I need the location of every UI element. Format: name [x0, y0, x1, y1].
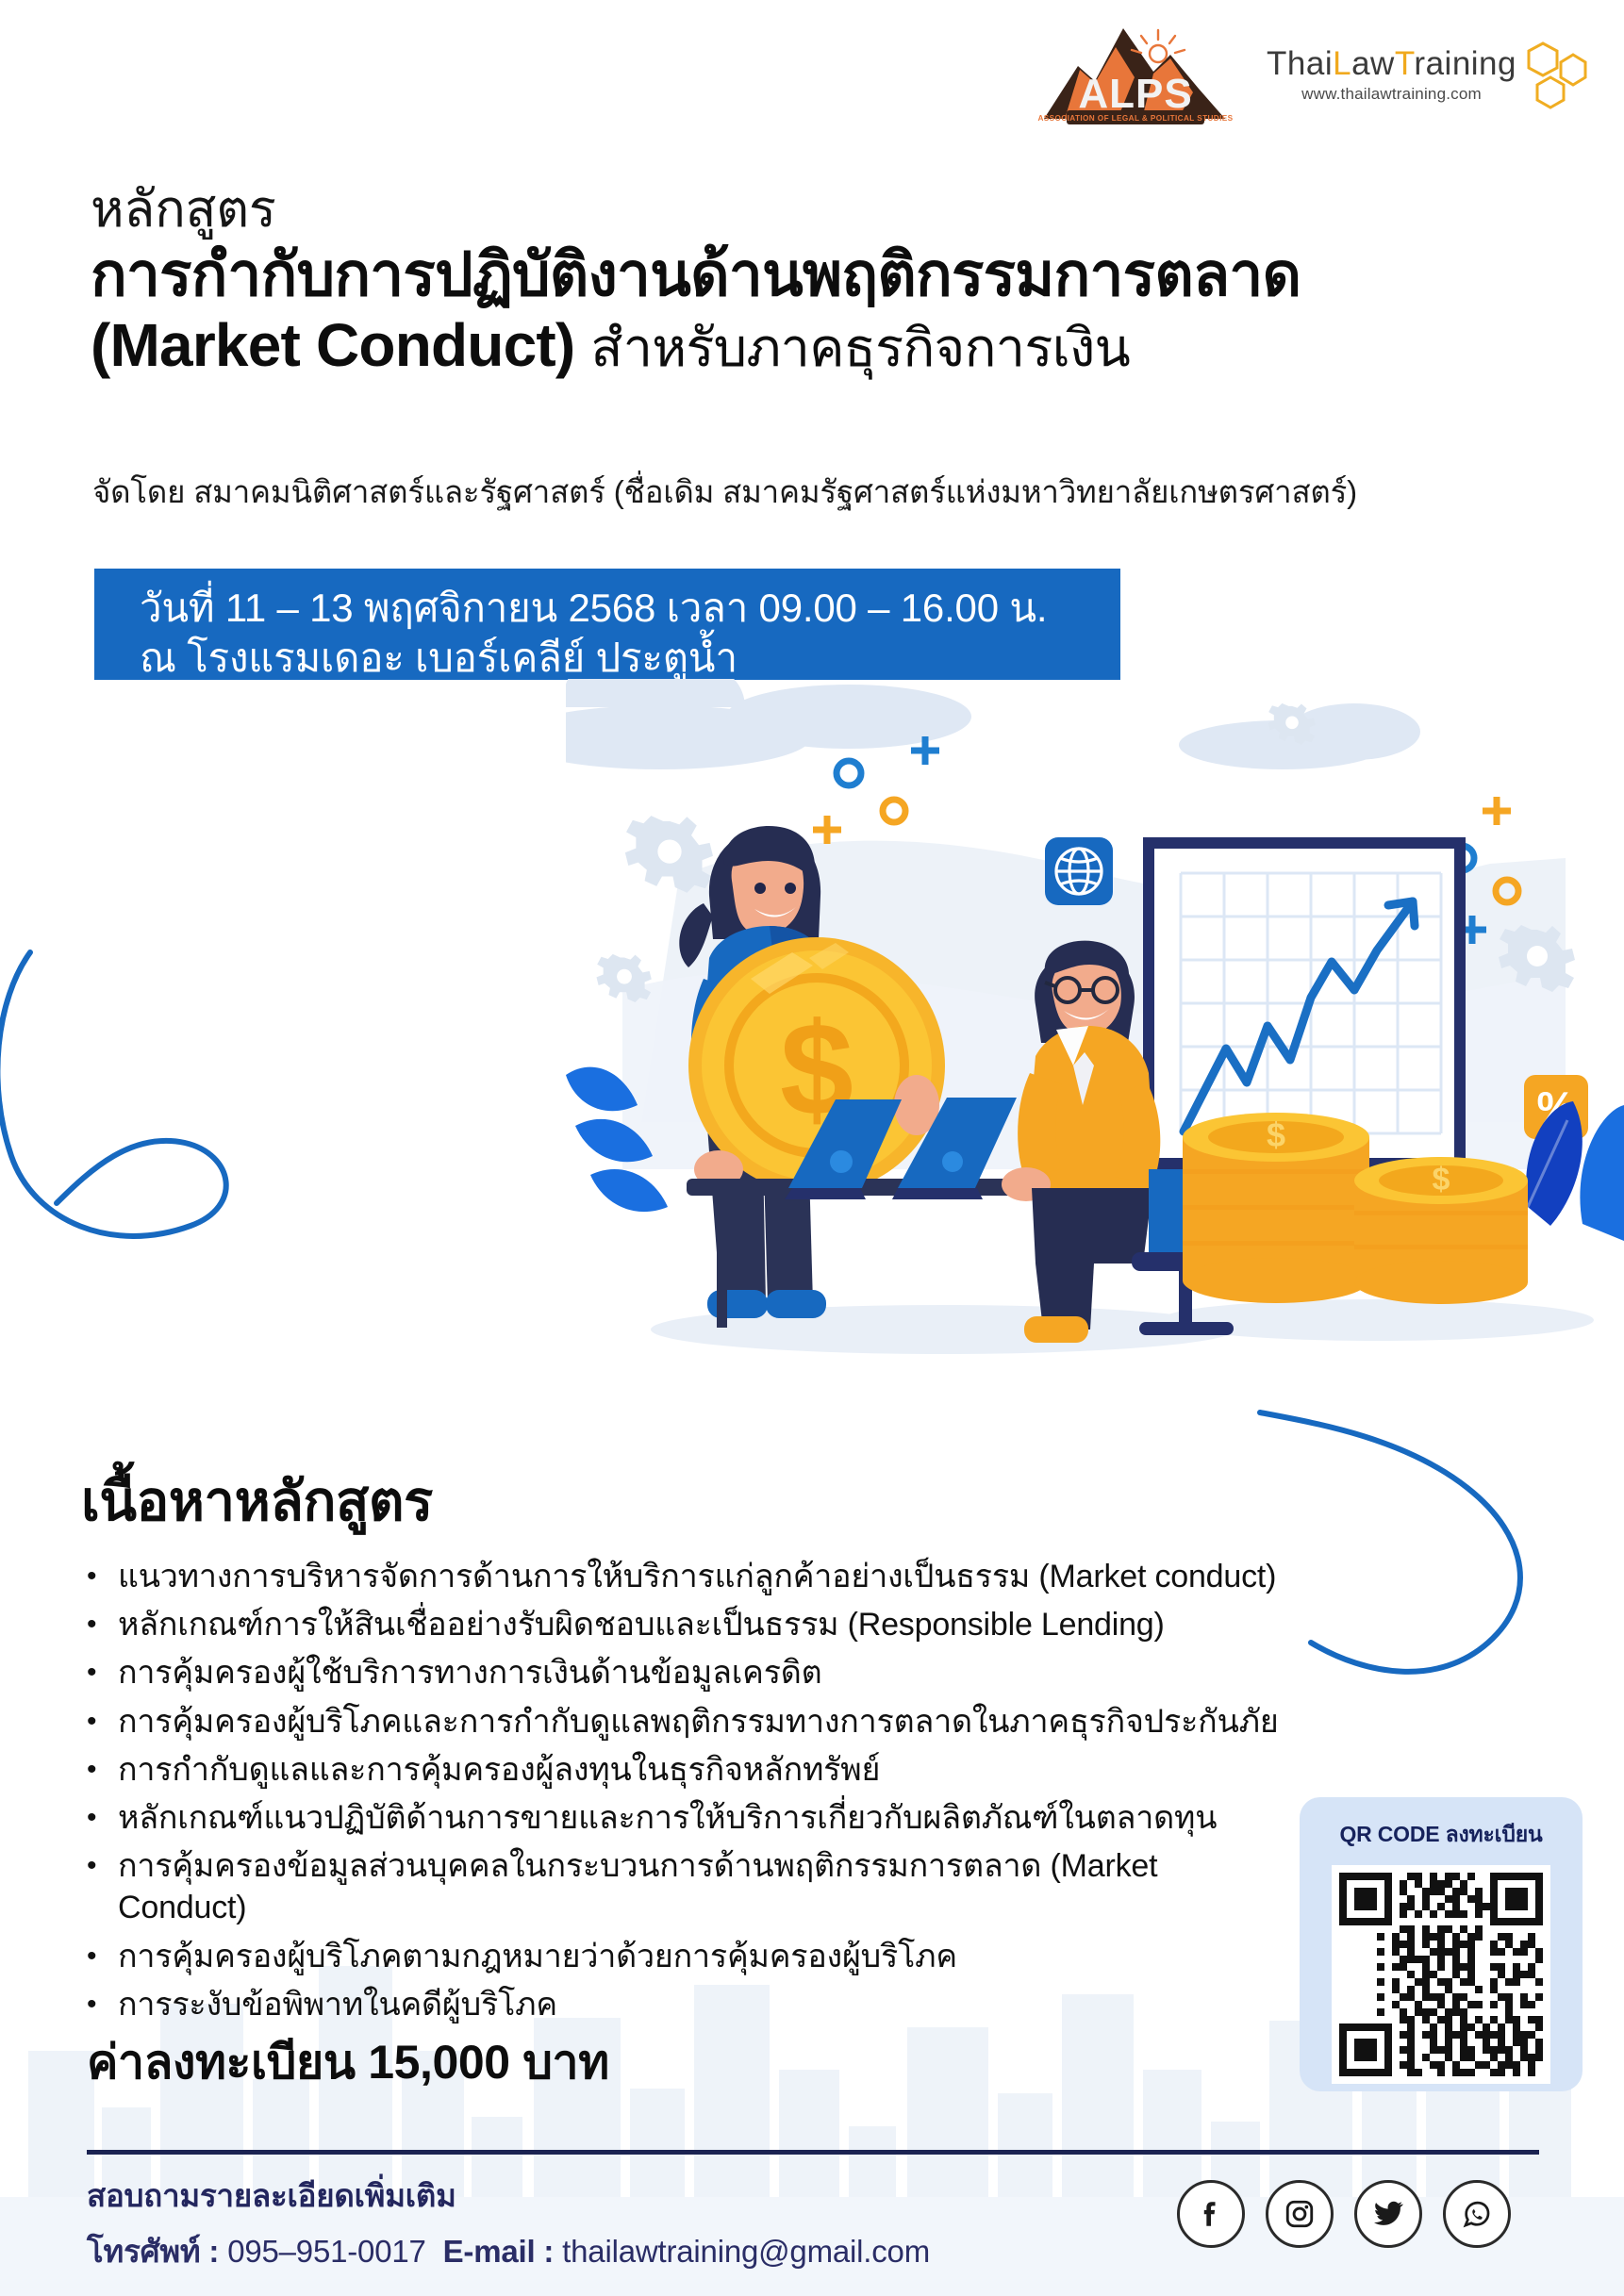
- facebook-button[interactable]: [1177, 2180, 1245, 2248]
- thailawtraining-logo: ThaiLawTraining www.thailawtraining.com: [1267, 40, 1588, 111]
- list-item-label: การระงับข้อพิพาทในคดีผู้บริโภค: [118, 1984, 557, 2025]
- email-address[interactable]: thailawtraining@gmail.com: [562, 2234, 930, 2269]
- list-item: การคุ้มครองผู้บริโภคตามกฎหมายว่าด้วยการค…: [87, 1936, 1294, 1977]
- globe-icon: [1045, 837, 1113, 905]
- svg-text:ALPS: ALPS: [1078, 71, 1192, 117]
- date-time-line: วันที่ 11 – 13 พฤศจิกายน 2568 เวลา 09.00…: [140, 584, 1120, 634]
- coin-stack-short: $: [1354, 1157, 1528, 1304]
- coin-stack-tall: $: [1183, 1113, 1369, 1303]
- list-item-label: หลักเกณฑ์แนวปฏิบัติด้านการขายและการให้บร…: [118, 1797, 1217, 1839]
- list-item: การคุ้มครองข้อมูลส่วนบุคคลในกระบวนการด้า…: [87, 1845, 1294, 1928]
- phone-label: โทรศัพท์ :: [87, 2234, 219, 2269]
- phone-number[interactable]: 095–951-0017: [227, 2234, 425, 2269]
- whatsapp-icon: [1461, 2198, 1493, 2230]
- hexagon-icon: [1526, 40, 1588, 111]
- course-subtitle-th: สำหรับภาคธุรกิจการเงิน: [590, 318, 1130, 377]
- list-item-label: การคุ้มครองผู้บริโภคและการกำกับดูแลพฤติก…: [118, 1701, 1279, 1743]
- instagram-icon: [1284, 2198, 1316, 2230]
- list-item-label: การคุ้มครองข้อมูลส่วนบุคคลในกระบวนการด้า…: [118, 1845, 1294, 1928]
- registration-fee: ค่าลงทะเบียน 15,000 บาท: [87, 2025, 609, 2100]
- social-links: [1177, 2180, 1511, 2248]
- list-item: การคุ้มครองผู้ใช้บริการทางการเงินด้านข้อ…: [87, 1652, 1294, 1693]
- brand-url: www.thailawtraining.com: [1301, 86, 1482, 103]
- list-item-label: แนวทางการบริหารจัดการด้านการให้บริการแก่…: [118, 1556, 1276, 1597]
- email-label: E-mail :: [443, 2234, 555, 2269]
- course-subtitle-en: (Market Conduct): [91, 311, 574, 379]
- brand-name: ThaiLawTraining: [1267, 47, 1516, 82]
- list-item-label: หลักเกณฑ์การให้สินเชื่ออย่างรับผิดชอบและ…: [118, 1604, 1165, 1645]
- qr-registration-panel[interactable]: QR CODE ลงทะเบียน: [1300, 1797, 1583, 2091]
- content-bullet-list: แนวทางการบริหารจัดการด้านการให้บริการแก่…: [87, 1556, 1294, 2032]
- list-item: การคุ้มครองผู้บริโภคและการกำกับดูแลพฤติก…: [87, 1701, 1294, 1743]
- ribbon-decor-right: [1254, 1396, 1624, 1773]
- alps-logo: ALPS ASSOCIATION OF LEGAL & POLITICAL ST…: [1036, 21, 1235, 129]
- course-kicker: หลักสูตร: [91, 181, 1543, 238]
- date-venue-box: วันที่ 11 – 13 พฤศจิกายน 2568 เวลา 09.00…: [94, 569, 1120, 680]
- list-item: แนวทางการบริหารจัดการด้านการให้บริการแก่…: [87, 1556, 1294, 1597]
- hero-illustration: %: [566, 679, 1624, 1471]
- list-item: การระงับข้อพิพาทในคดีผู้บริโภค: [87, 1984, 1294, 2025]
- svg-text:$: $: [1267, 1115, 1285, 1154]
- poster-root: ALPS ASSOCIATION OF LEGAL & POLITICAL ST…: [0, 0, 1624, 2296]
- header-logos: ALPS ASSOCIATION OF LEGAL & POLITICAL ST…: [1036, 21, 1588, 129]
- whatsapp-button[interactable]: [1443, 2180, 1511, 2248]
- svg-text:ASSOCIATION OF LEGAL & POLITIC: ASSOCIATION OF LEGAL & POLITICAL STUDIES: [1037, 114, 1233, 123]
- twitter-icon: [1371, 2197, 1405, 2231]
- footer-enquiry-label: สอบถามรายละเอียดเพิ่มเติม: [87, 2171, 930, 2221]
- footer-contact-details: โทรศัพท์ : 095–951-0017 E-mail : thailaw…: [87, 2226, 930, 2276]
- facebook-icon: [1195, 2198, 1227, 2230]
- list-item-label: การคุ้มครองผู้ใช้บริการทางการเงินด้านข้อ…: [118, 1652, 822, 1693]
- list-item: หลักเกณฑ์แนวปฏิบัติด้านการขายและการให้บร…: [87, 1797, 1294, 1839]
- twitter-button[interactable]: [1354, 2180, 1422, 2248]
- course-title: การกำกับการปฏิบัติงานด้านพฤติกรรมการตลาด: [91, 240, 1543, 309]
- title-block: หลักสูตร การกำกับการปฏิบัติงานด้านพฤติกร…: [91, 181, 1543, 380]
- list-item-label: การคุ้มครองผู้บริโภคตามกฎหมายว่าด้วยการค…: [118, 1936, 957, 1977]
- list-item: หลักเกณฑ์การให้สินเชื่ออย่างรับผิดชอบและ…: [87, 1604, 1294, 1645]
- list-item: การกำกับดูแลและการคุ้มครองผู้ลงทุนในธุรก…: [87, 1749, 1294, 1791]
- course-subtitle: (Market Conduct) สำหรับภาคธุรกิจการเงิน: [91, 310, 1543, 380]
- qr-code-image[interactable]: [1332, 1865, 1550, 2084]
- ribbon-decor-left: [0, 943, 396, 1339]
- list-item-label: การกำกับดูแลและการคุ้มครองผู้ลงทุนในธุรก…: [118, 1749, 880, 1791]
- venue-line: ณ โรงแรมเดอะ เบอร์เคลีย์ ประตูน้ำ: [140, 634, 1120, 684]
- footer-divider: [87, 2150, 1539, 2155]
- footer-contact: สอบถามรายละเอียดเพิ่มเติม โทรศัพท์ : 095…: [87, 2171, 930, 2276]
- svg-text:$: $: [1433, 1162, 1450, 1198]
- organizer-line: จัดโดย สมาคมนิติศาสตร์และรัฐศาสตร์ (ชื่อ…: [92, 467, 1357, 517]
- qr-label: QR CODE ลงทะเบียน: [1339, 1818, 1542, 1852]
- content-heading: เนื้อหาหลักสูตร: [81, 1457, 433, 1544]
- instagram-button[interactable]: [1266, 2180, 1334, 2248]
